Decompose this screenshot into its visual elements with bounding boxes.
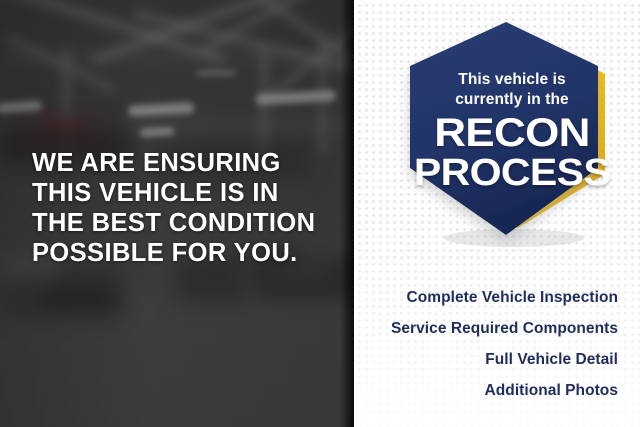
recon-process-banner: WE ARE ENSURING THIS VEHICLE IS IN THE B… <box>0 0 640 427</box>
headline-line-4: POSSIBLE FOR YOU. <box>32 238 332 268</box>
badge-navy-hexagon <box>410 22 598 235</box>
recon-badge: This vehicle is currently in the RECON P… <box>396 22 628 254</box>
headline-line-1: WE ARE ENSURING <box>32 148 332 178</box>
headline: WE ARE ENSURING THIS VEHICLE IS IN THE B… <box>32 148 332 268</box>
headline-line-2: THIS VEHICLE IS IN <box>32 178 332 208</box>
feature-item-full-vehicle-detail: Full Vehicle Detail <box>360 344 618 375</box>
feature-list: Complete Vehicle Inspection Service Requ… <box>360 282 618 406</box>
panel-edge-shadow <box>340 0 354 427</box>
badge-drop-shadow <box>444 229 584 247</box>
headline-line-3: THE BEST CONDITION <box>32 208 332 238</box>
feature-item-additional-photos: Additional Photos <box>360 375 618 406</box>
hexagon-badge-icon <box>396 22 628 254</box>
feature-item-service-required-components: Service Required Components <box>360 313 618 344</box>
feature-item-complete-vehicle-inspection: Complete Vehicle Inspection <box>360 282 618 313</box>
